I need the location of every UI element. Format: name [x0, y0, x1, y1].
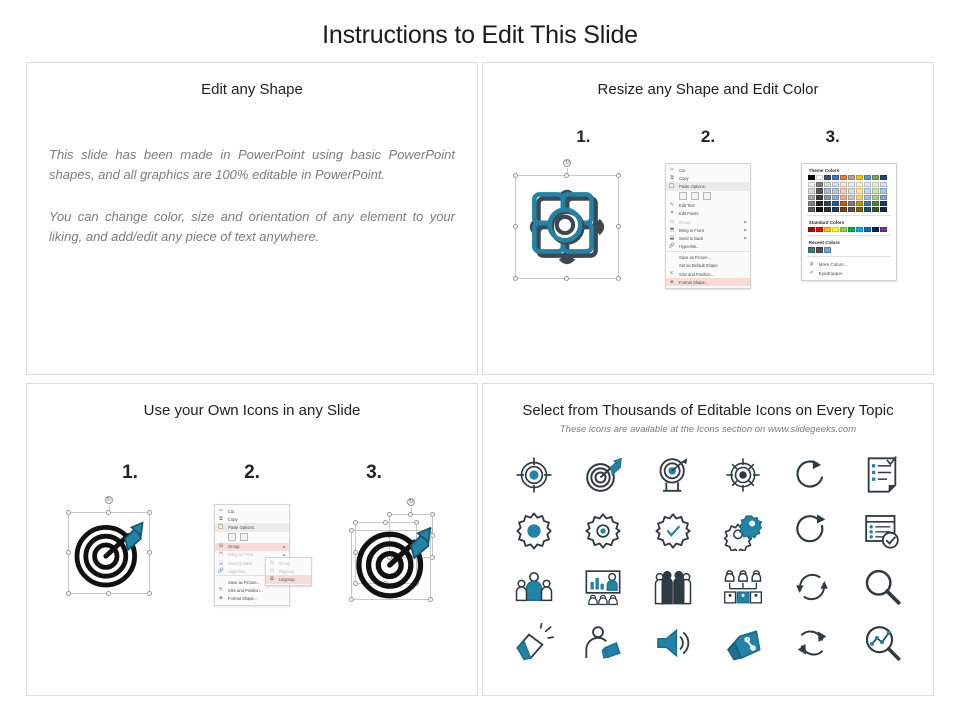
submenu-item-group-label: Group — [279, 561, 308, 566]
paste-icon: 📋 — [668, 183, 676, 190]
resize-steps-figures: ↻ — [483, 159, 933, 289]
copy-icon: ⧉ — [217, 516, 225, 523]
menu-item-paste-options-label: Paste Options: — [228, 525, 286, 530]
menu-item-size-and-position-label: Size and Position... — [228, 588, 286, 593]
own-icons-step-number-2: 2. — [191, 462, 313, 484]
menu-item-format-shape-label: Format Shape... — [228, 596, 286, 601]
theme-tint-swatch[interactable] — [808, 188, 815, 193]
slide-root: Instructions to Edit This Slide Edit any… — [0, 0, 960, 720]
person-announce-icon — [583, 623, 623, 663]
theme-tint-swatch[interactable] — [808, 182, 815, 187]
menu-item-edit-text-label: Edit Text — [679, 203, 747, 208]
icon-cell[interactable] — [638, 503, 708, 559]
group-icon: ⊞ — [217, 543, 225, 550]
menu-item-send-to-back-label: Send to Back — [679, 236, 744, 241]
chevron-right-icon: ▶ — [283, 545, 286, 549]
theme-tint-row[interactable] — [808, 201, 890, 206]
icon-cell[interactable] — [708, 503, 778, 559]
theme-tint-swatch[interactable] — [848, 207, 855, 212]
scissors-icon: ✂ — [217, 508, 225, 515]
rotate-handle-icon[interactable]: ↻ — [407, 498, 415, 506]
panel-icon-library-subtitle: These icons are available at the Icons s… — [483, 424, 933, 435]
panel-grid: Edit any Shape This slide has been made … — [26, 62, 934, 696]
icon-cell[interactable] — [499, 615, 569, 671]
submenu-item-regroup[interactable]: ⊟ Regroup — [266, 567, 311, 575]
theme-colors-base-row[interactable] — [808, 175, 890, 180]
theme-swatch[interactable] — [856, 175, 863, 180]
icon-cell[interactable] — [569, 447, 639, 503]
icon-cell[interactable] — [638, 559, 708, 615]
chevron-right-icon: ▶ — [744, 228, 747, 232]
more-colors-option[interactable]: ◍ More Colors... — [802, 260, 896, 269]
resize-handle-bottom-right[interactable] — [616, 276, 621, 281]
theme-tint-swatch[interactable] — [832, 201, 839, 206]
magnifier-chart-icon — [862, 623, 902, 663]
theme-swatch[interactable] — [864, 175, 871, 180]
group-icon: ⊞ — [668, 219, 676, 226]
icon-cell[interactable] — [638, 615, 708, 671]
theme-tint-swatch[interactable] — [864, 182, 871, 187]
menu-item-format-shape[interactable]: ◈ Format Shape... — [666, 278, 750, 286]
group-icon: ⊞ — [268, 560, 276, 567]
theme-tint-swatch[interactable] — [840, 201, 847, 206]
menu-item-set-default-shape-label: Set as Default Shape — [679, 263, 747, 268]
menu-item-edit-text[interactable]: ✎ Edit Text — [666, 202, 750, 210]
theme-tint-swatch[interactable] — [840, 182, 847, 187]
recent-swatch[interactable] — [824, 247, 831, 252]
own-icons-steps-figures: ↻ — [27, 498, 477, 606]
dartboard-arrow-icon — [583, 455, 623, 495]
theme-tint-swatch[interactable] — [872, 201, 879, 206]
theme-tint-row[interactable] — [808, 182, 890, 187]
recent-colors-heading: Recent Colors — [802, 239, 896, 247]
icon-cell[interactable] — [708, 615, 778, 671]
paste-option-buttons[interactable] — [215, 532, 289, 543]
standard-swatch[interactable] — [824, 227, 831, 232]
theme-tint-swatch[interactable] — [872, 182, 879, 187]
theme-swatch[interactable] — [808, 175, 815, 180]
megaphone-icon — [514, 623, 554, 663]
menu-item-size-and-position[interactable]: ⇱ Size and Position... — [215, 587, 289, 595]
paste-option-buttons[interactable] — [666, 191, 750, 202]
resize-handle-top-left[interactable] — [66, 510, 71, 515]
theme-tint-swatch[interactable] — [880, 188, 887, 193]
panel-edit-shape: Edit any Shape This slide has been made … — [26, 62, 478, 375]
icon-cell[interactable] — [499, 447, 569, 503]
resize-handle-top-right[interactable] — [147, 510, 152, 515]
theme-tint-swatch[interactable] — [816, 182, 823, 187]
team-people-icon — [514, 567, 554, 607]
theme-swatch[interactable] — [840, 175, 847, 180]
menu-item-copy[interactable]: ⧉ Copy — [215, 515, 289, 523]
standard-swatch[interactable] — [864, 227, 871, 232]
menu-item-paste-options[interactable]: 📋 Paste Options: — [666, 182, 750, 190]
sync-arrows-icon — [792, 567, 832, 607]
theme-tint-swatch[interactable] — [864, 188, 871, 193]
gear-outline-icon — [583, 511, 623, 551]
rotate-arrows-icon — [792, 623, 832, 663]
theme-tint-swatch[interactable] — [816, 195, 823, 200]
resize-step-number-3: 3. — [770, 127, 895, 147]
gears-pair-icon — [723, 511, 763, 551]
theme-tint-swatch[interactable] — [832, 182, 839, 187]
menu-item-cut[interactable]: ✂ Cut — [215, 507, 289, 515]
reload-arrow-icon — [792, 511, 832, 551]
resize-handle-top-center[interactable] — [106, 510, 111, 515]
ungroup-icon: ⧉ — [268, 576, 276, 583]
standard-swatch[interactable] — [816, 227, 823, 232]
standard-colors-row[interactable] — [808, 227, 890, 232]
menu-item-size-and-position[interactable]: ⇱ Size and Position... — [666, 270, 750, 278]
menu-item-bring-to-front-label: Bring to Front — [679, 228, 744, 233]
dartboard-arrow-icon — [69, 513, 149, 593]
resize-handle-bottom-center[interactable] — [106, 591, 111, 596]
hyperlink-icon: 🔗 — [668, 243, 676, 250]
submenu-item-ungroup-label: Ungroup — [279, 577, 308, 582]
menu-item-copy-label: Copy — [228, 517, 286, 522]
icon-library-grid — [483, 439, 933, 681]
paste-keep-formatting-icon[interactable] — [228, 533, 236, 541]
gear-filled-icon — [514, 511, 554, 551]
theme-tint-swatch[interactable] — [824, 188, 831, 193]
icon-cell[interactable] — [499, 503, 569, 559]
gear-check-icon — [653, 511, 693, 551]
theme-swatch[interactable] — [872, 175, 879, 180]
target-stand-icon — [653, 455, 693, 495]
chevron-right-icon: ▶ — [744, 220, 747, 224]
menu-item-group[interactable]: ⊞ Group ▶ — [666, 218, 750, 226]
theme-tint-swatch[interactable] — [864, 201, 871, 206]
panel-resize-shape: Resize any Shape and Edit Color 1. 2. 3.… — [482, 62, 934, 375]
standard-swatch[interactable] — [848, 227, 855, 232]
theme-swatch[interactable] — [824, 175, 831, 180]
icon-cell[interactable] — [778, 559, 848, 615]
resize-step-number-2: 2. — [646, 127, 771, 147]
dartboard-arrow-ungrouped-icon — [351, 514, 439, 602]
theme-tint-row[interactable] — [808, 188, 890, 193]
theme-tint-swatch[interactable] — [880, 195, 887, 200]
scope-crosshair-icon — [723, 455, 763, 495]
panel-icon-library-title: Select from Thousands of Editable Icons … — [483, 402, 933, 420]
theme-tint-swatch[interactable] — [832, 195, 839, 200]
menu-item-hyperlink-label: Hyperlink... — [679, 244, 747, 249]
menu-item-copy[interactable]: ⧉ Copy — [666, 174, 750, 182]
panel-edit-shape-title: Edit any Shape — [27, 81, 477, 99]
magnifier-icon — [862, 567, 902, 607]
paste-merge-formatting-icon[interactable] — [691, 192, 699, 200]
standard-swatch[interactable] — [872, 227, 879, 232]
menu-item-edit-points-label: Edit Points — [679, 211, 747, 216]
theme-tint-swatch[interactable] — [816, 188, 823, 193]
speaker-icon — [653, 623, 693, 663]
resize-handle-bottom-left[interactable] — [66, 591, 71, 596]
theme-tint-swatch[interactable] — [848, 182, 855, 187]
menu-item-save-as-picture-label: Save as Picture... — [679, 255, 747, 260]
presentation-board-icon — [583, 567, 623, 607]
menu-item-cut[interactable]: ✂ Cut — [666, 166, 750, 174]
format-shape-icon: ◈ — [668, 279, 676, 286]
theme-tint-swatch[interactable] — [856, 182, 863, 187]
copy-icon: ⧉ — [668, 175, 676, 182]
menu-item-bring-to-front[interactable]: ⬒ Bring to Front ▶ — [666, 226, 750, 234]
theme-tint-swatch[interactable] — [848, 188, 855, 193]
menu-item-cut-label: Cut — [679, 168, 747, 173]
own-icons-step-number-3: 3. — [313, 462, 435, 484]
theme-tint-swatch[interactable] — [880, 207, 887, 212]
theme-tint-swatch[interactable] — [872, 195, 879, 200]
color-picker-divider — [807, 215, 891, 216]
size-position-icon: ⇱ — [217, 587, 225, 594]
icon-cell[interactable] — [708, 447, 778, 503]
theme-tint-swatch[interactable] — [840, 195, 847, 200]
theme-colors-grid[interactable] — [802, 175, 896, 212]
menu-item-paste-options-label: Paste Options: — [679, 184, 747, 189]
paste-picture-icon[interactable] — [703, 192, 711, 200]
color-picker-panel[interactable]: Theme Colors — [801, 163, 897, 281]
palette-icon: ◍ — [808, 261, 816, 267]
resize-handle-bottom-left[interactable] — [513, 276, 518, 281]
shape-selection-box[interactable]: ↻ — [515, 175, 619, 279]
icon-cell[interactable] — [778, 615, 848, 671]
group-submenu[interactable]: ⊞ Group ⊟ Regroup ⧉ Ungroup — [265, 557, 312, 586]
panel-icon-library: Select from Thousands of Editable Icons … — [482, 383, 934, 696]
menu-item-group[interactable]: ⊞ Group ▶ — [215, 543, 289, 551]
group-people-icon — [653, 567, 693, 607]
standard-swatch[interactable] — [840, 227, 847, 232]
icon-cell[interactable] — [847, 615, 917, 671]
standard-colors-heading: Standard Colors — [802, 219, 896, 227]
format-shape-icon: ◈ — [217, 595, 225, 602]
panel-own-icons: Use your Own Icons in any Slide 1. 2. 3.… — [26, 383, 478, 696]
scissors-icon: ✂ — [668, 167, 676, 174]
menu-item-paste-options[interactable]: 📋 Paste Options: — [215, 523, 289, 531]
menu-item-size-and-position-label: Size and Position... — [679, 272, 747, 277]
standard-swatch[interactable] — [880, 227, 887, 232]
theme-tint-swatch[interactable] — [840, 188, 847, 193]
menu-item-send-to-back[interactable]: ⬓ Send to Back ▶ — [666, 234, 750, 242]
resize-steps-numbers: 1. 2. 3. — [483, 127, 933, 147]
panel-resize-shape-title: Resize any Shape and Edit Color — [483, 81, 933, 99]
theme-tint-swatch[interactable] — [832, 188, 839, 193]
theme-tint-swatch[interactable] — [856, 201, 863, 206]
theme-swatch[interactable] — [816, 175, 823, 180]
color-picker-divider — [807, 256, 891, 257]
recent-colors-grid[interactable] — [802, 247, 896, 252]
ungrouped-icon-figure[interactable]: ↻ — [349, 510, 441, 602]
chevron-right-icon: ▶ — [744, 236, 747, 240]
recent-swatch[interactable] — [808, 247, 815, 252]
eyedropper-label: Eyedropper — [819, 271, 843, 276]
menu-item-format-shape-label: Format Shape... — [679, 280, 747, 285]
send-back-icon: ⬓ — [668, 235, 676, 242]
color-picker-divider — [807, 235, 891, 236]
icon-context-menu[interactable]: ✂ Cut ⧉ Copy 📋 Paste Options: — [214, 504, 290, 606]
own-icons-steps-numbers: 1. 2. 3. — [27, 462, 477, 484]
edit-shape-paragraph-1: This slide has been made in PowerPoint u… — [49, 145, 455, 185]
regroup-icon: ⊟ — [268, 568, 276, 575]
edit-text-icon: ✎ — [668, 202, 676, 209]
resize-handle-bottom-right[interactable] — [147, 591, 152, 596]
submenu-item-group[interactable]: ⊞ Group — [266, 559, 311, 567]
submenu-item-regroup-label: Regroup — [279, 569, 308, 574]
menu-item-save-as-picture[interactable]: Save as Picture... — [666, 254, 750, 262]
rotate-handle-icon[interactable]: ↻ — [563, 159, 571, 167]
edit-shape-paragraph-2: You can change color, size and orientati… — [49, 207, 455, 247]
discount-megaphone-icon — [723, 623, 763, 663]
checklist-approved-icon — [862, 511, 902, 551]
theme-tint-row[interactable] — [808, 207, 890, 212]
menu-item-edit-points[interactable]: ⌗ Edit Points — [666, 210, 750, 218]
icon-cell[interactable] — [847, 447, 917, 503]
resize-handle-bottom-center[interactable] — [564, 276, 569, 281]
icon-cell[interactable] — [569, 615, 639, 671]
resize-handle-middle-right[interactable] — [616, 224, 621, 229]
theme-tint-swatch[interactable] — [864, 195, 871, 200]
theme-tint-swatch[interactable] — [824, 182, 831, 187]
theme-tint-swatch[interactable] — [848, 195, 855, 200]
theme-tint-swatch[interactable] — [808, 201, 815, 206]
icon-cell[interactable] — [708, 559, 778, 615]
standard-swatch[interactable] — [832, 227, 839, 232]
resize-handle-top-right[interactable] — [616, 173, 621, 178]
theme-tint-swatch[interactable] — [856, 195, 863, 200]
standard-swatch[interactable] — [856, 227, 863, 232]
theme-swatch[interactable] — [848, 175, 855, 180]
theme-tint-swatch[interactable] — [856, 207, 863, 212]
more-colors-label: More Colors... — [819, 262, 848, 267]
theme-tint-swatch[interactable] — [816, 201, 823, 206]
icon-cell[interactable] — [847, 559, 917, 615]
org-chart-icon — [723, 567, 763, 607]
submenu-item-ungroup[interactable]: ⧉ Ungroup — [266, 575, 311, 583]
theme-tint-swatch[interactable] — [816, 207, 823, 212]
icon-cell[interactable] — [778, 503, 848, 559]
theme-tint-swatch[interactable] — [848, 201, 855, 206]
icon-cell[interactable] — [569, 559, 639, 615]
menu-item-group-label: Group — [679, 220, 744, 225]
standard-colors-grid[interactable] — [802, 227, 896, 232]
icon-selection-box[interactable]: ↻ — [68, 512, 150, 594]
icon-cell[interactable] — [778, 447, 848, 503]
paste-icon: 📋 — [217, 524, 225, 531]
menu-item-hyperlink[interactable]: 🔗 Hyperlink... — [666, 243, 750, 251]
icon-cell[interactable] — [499, 559, 569, 615]
theme-tint-swatch[interactable] — [864, 207, 871, 212]
page-title: Instructions to Edit This Slide — [0, 0, 960, 60]
bring-front-icon: ⬒ — [217, 551, 225, 558]
paste-keep-formatting-icon[interactable] — [679, 192, 687, 200]
menu-item-format-shape[interactable]: ◈ Format Shape... — [215, 595, 289, 603]
theme-tint-swatch[interactable] — [824, 195, 831, 200]
menu-item-cut-label: Cut — [228, 509, 286, 514]
theme-tint-swatch[interactable] — [872, 207, 879, 212]
refresh-arrow-icon — [792, 455, 832, 495]
resize-handle-middle-left[interactable] — [66, 550, 71, 555]
menu-item-group-label: Group — [228, 544, 283, 549]
blank-icon — [668, 262, 676, 269]
standard-swatch[interactable] — [808, 227, 815, 232]
theme-swatch[interactable] — [880, 175, 887, 180]
bring-front-icon: ⬒ — [668, 227, 676, 234]
edit-points-icon: ⌗ — [668, 210, 676, 217]
checklist-document-icon — [862, 455, 902, 495]
four-quadrant-shape-icon — [516, 176, 618, 278]
eyedropper-icon: ✐ — [808, 270, 816, 276]
theme-tint-swatch[interactable] — [880, 182, 887, 187]
panel-own-icons-title: Use your Own Icons in any Slide — [27, 402, 477, 420]
resize-handle-middle-right[interactable] — [147, 550, 152, 555]
rotate-handle-icon[interactable]: ↻ — [105, 496, 113, 504]
menu-item-copy-label: Copy — [679, 176, 747, 181]
theme-tint-swatch[interactable] — [808, 207, 815, 212]
size-position-icon: ⇱ — [668, 271, 676, 278]
icon-cell[interactable] — [569, 503, 639, 559]
icon-cell[interactable] — [638, 447, 708, 503]
resize-step-number-1: 1. — [521, 127, 646, 147]
recent-swatch[interactable] — [816, 247, 823, 252]
theme-swatch[interactable] — [832, 175, 839, 180]
theme-colors-heading: Theme Colors — [802, 167, 896, 175]
shape-context-menu[interactable]: ✂ Cut ⧉ Copy 📋 Paste Options: — [665, 163, 751, 289]
hyperlink-icon: 🔗 — [217, 568, 225, 575]
paste-picture-icon[interactable] — [240, 533, 248, 541]
theme-tint-swatch[interactable] — [880, 201, 887, 206]
theme-tint-swatch[interactable] — [872, 188, 879, 193]
send-back-icon: ⬓ — [217, 560, 225, 567]
theme-tint-swatch[interactable] — [840, 207, 847, 212]
recent-colors-row[interactable] — [808, 247, 890, 252]
target-crosshair-icon — [514, 455, 554, 495]
blank-icon — [668, 254, 676, 261]
icon-cell[interactable] — [847, 503, 917, 559]
theme-tint-swatch[interactable] — [824, 201, 831, 206]
theme-tint-swatch[interactable] — [808, 195, 815, 200]
eyedropper-option[interactable]: ✐ Eyedropper — [802, 269, 896, 278]
menu-item-set-default-shape[interactable]: Set as Default Shape — [666, 262, 750, 270]
theme-tint-swatch[interactable] — [856, 188, 863, 193]
theme-tint-swatch[interactable] — [832, 207, 839, 212]
theme-tint-row[interactable] — [808, 195, 890, 200]
theme-tint-swatch[interactable] — [824, 207, 831, 212]
blank-icon — [217, 579, 225, 586]
own-icons-step-number-1: 1. — [69, 462, 191, 484]
